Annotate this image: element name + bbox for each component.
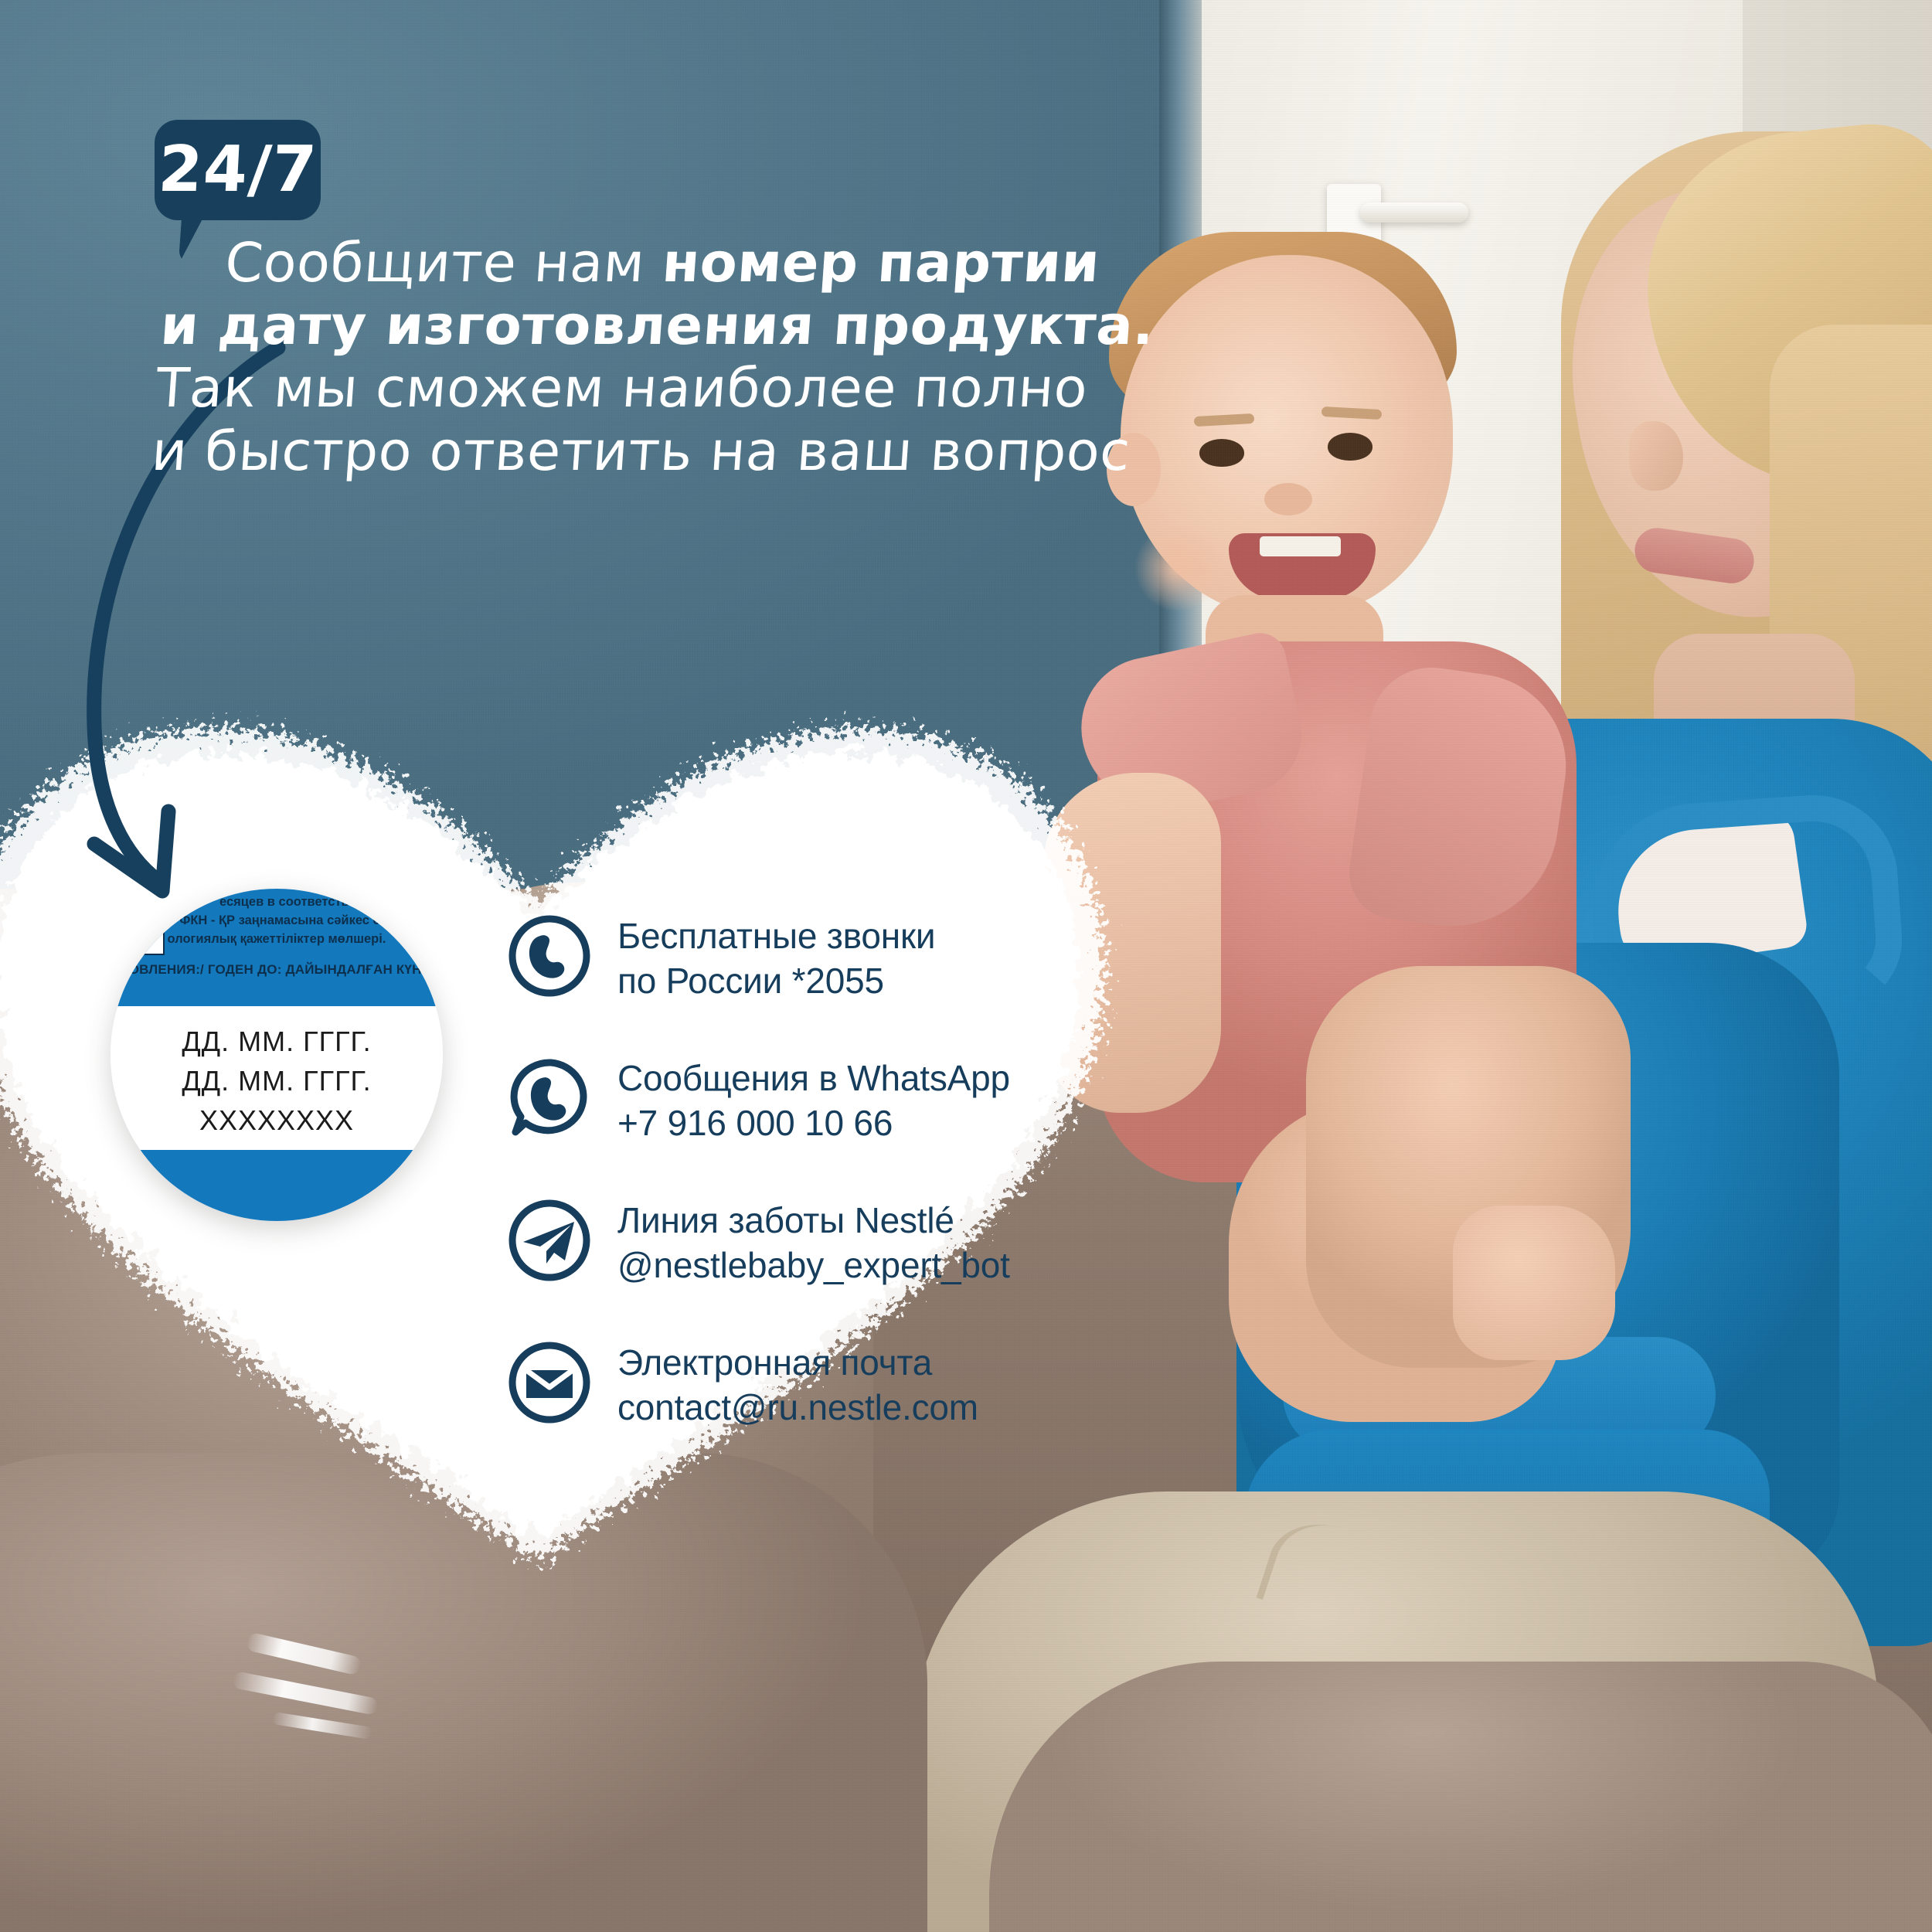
headline-bold-1: номер партии bbox=[660, 231, 1102, 294]
contact-value-telegram: @nestlebaby_expert_bot bbox=[617, 1243, 1010, 1288]
baby-eye-left bbox=[1199, 439, 1244, 467]
contact-title-whatsapp: Сообщения в WhatsApp bbox=[617, 1056, 1010, 1101]
phone-icon bbox=[506, 913, 593, 999]
label-kz-line-2: ФКН - ҚР заңнамасына сәйкес 6 bbox=[111, 912, 443, 930]
email-icon bbox=[506, 1339, 593, 1426]
baby-hand bbox=[1453, 1206, 1615, 1360]
contact-value-phone: по России *2055 bbox=[617, 959, 935, 1004]
mother-nose bbox=[1629, 421, 1683, 491]
label-date-values: ДД. ММ. ГГГГ. ДД. ММ. ГГГГ. ХХХХХХХХ bbox=[111, 1022, 443, 1140]
contact-text-whatsapp: Сообщения в WhatsApp +7 916 000 10 66 bbox=[617, 1050, 1010, 1146]
label-kz-line-3: ологиялық қажеттіліктер мөлшері. bbox=[111, 930, 443, 949]
label-date-line-1: ДД. ММ. ГГГГ. bbox=[111, 1022, 443, 1061]
poster-canvas: 24/7 Сообщите нам номер партии и дату из… bbox=[0, 0, 1932, 1932]
baby-teeth bbox=[1260, 536, 1341, 556]
contact-row-whatsapp[interactable]: Сообщения в WhatsApp +7 916 000 10 66 bbox=[506, 1050, 1148, 1146]
label-date-header: ОВЛЕНИЯ:/ ГОДЕН ДО: ДАЙЫНДАЛҒАН КҮНІ:/ bbox=[111, 962, 443, 978]
label-batch-number: ХХХХХХХХ bbox=[111, 1100, 443, 1140]
availability-badge: 24/7 bbox=[155, 120, 321, 220]
headline-line-2: и дату изготовления продукта. bbox=[158, 294, 1121, 357]
sofa-seat bbox=[989, 1662, 1932, 1932]
page-title: Сообщите нам номер партии и дату изготов… bbox=[150, 232, 1126, 483]
baby-eye-right bbox=[1328, 433, 1372, 461]
contact-row-telegram[interactable]: Линия заботы Nestlé @nestlebaby_expert_b… bbox=[506, 1192, 1148, 1288]
headline-line-3: Так мы сможем наиболее полно bbox=[154, 357, 1117, 420]
contact-list: Бесплатные звонки по России *2055 Сообще… bbox=[506, 908, 1148, 1477]
contact-value-whatsapp: +7 916 000 10 66 bbox=[617, 1101, 1010, 1146]
door-handle bbox=[1360, 202, 1468, 223]
contact-row-email[interactable]: Электронная почта contact@ru.nestle.com bbox=[506, 1335, 1148, 1430]
badge-label: 24/7 bbox=[157, 138, 318, 202]
baby-nose bbox=[1264, 483, 1312, 515]
contact-row-phone[interactable]: Бесплатные звонки по России *2055 bbox=[506, 908, 1148, 1004]
telegram-icon bbox=[506, 1197, 593, 1284]
whatsapp-icon bbox=[506, 1055, 593, 1141]
label-kz-line-1: есяцев в соответствии bbox=[111, 893, 443, 912]
product-label-zoom-circle: есяцев в соответствии ФКН - ҚР заңнамасы… bbox=[111, 889, 443, 1221]
contact-text-telegram: Линия заботы Nestlé @nestlebaby_expert_b… bbox=[617, 1192, 1010, 1288]
label-date-line-2: ДД. ММ. ГГГГ. bbox=[111, 1061, 443, 1100]
contact-title-telegram: Линия заботы Nestlé bbox=[617, 1199, 1010, 1243]
contact-text-email: Электронная почта contact@ru.nestle.com bbox=[617, 1335, 978, 1430]
baby-smile bbox=[1229, 533, 1376, 600]
headline-line-4: и быстро ответить на ваш вопрос bbox=[150, 420, 1113, 483]
contact-value-email: contact@ru.nestle.com bbox=[617, 1386, 978, 1430]
headline-line-1: Сообщите нам номер партии bbox=[163, 232, 1126, 294]
label-blue-bottom-band bbox=[111, 1150, 443, 1221]
contact-text-phone: Бесплатные звонки по России *2055 bbox=[617, 908, 935, 1004]
headline-plain-1: Сообщите нам bbox=[223, 231, 665, 294]
label-kz-legal-text: есяцев в соответствии ФКН - ҚР заңнамасы… bbox=[111, 893, 443, 949]
contact-title-phone: Бесплатные звонки bbox=[617, 914, 935, 959]
contact-title-email: Электронная почта bbox=[617, 1341, 978, 1386]
